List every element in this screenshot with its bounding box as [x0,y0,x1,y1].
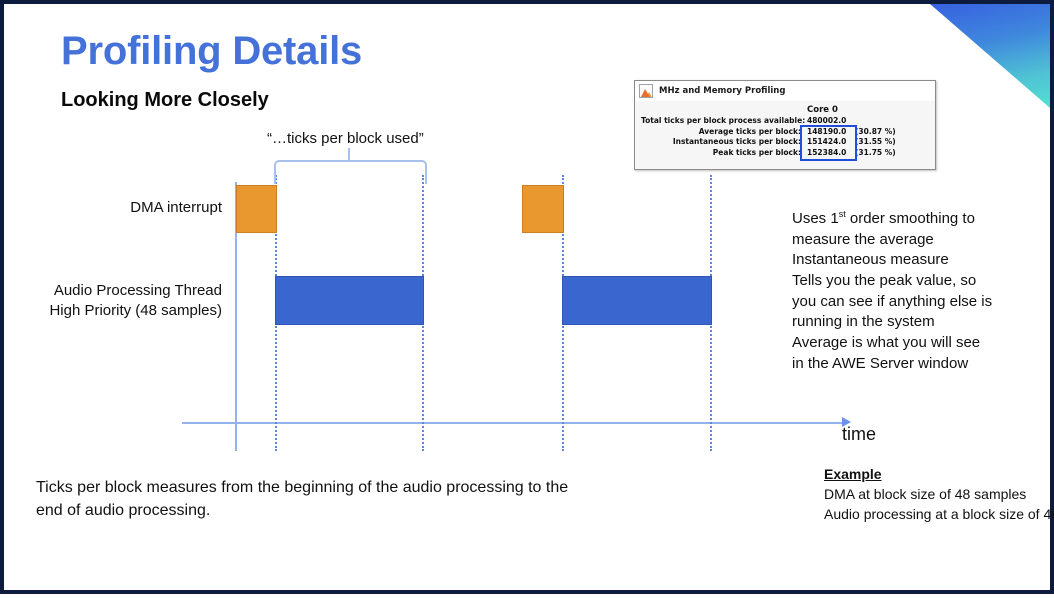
note-line-1-prefix: Uses 1 [792,210,839,227]
profiling-row-average: Average ticks per block: 148190.0 (30.87… [641,127,929,138]
measurement-brace-stem [348,148,350,161]
note-line-1: Uses 1st order smoothing to [792,208,1042,230]
example-line-1: DMA at block size of 48 samples [824,485,1054,505]
profiling-label-total: Total ticks per block process available: [641,116,807,125]
profiling-window-titlebar: MHz and Memory Profiling [635,81,935,101]
example-block: Example DMA at block size of 48 samples … [824,465,1054,525]
time-axis-line [182,422,844,424]
profiling-row-total: Total ticks per block process available:… [641,116,929,127]
note-line-2: measure the average [792,230,1042,251]
note-line-6: running in the system [792,312,1042,333]
profiling-label-average: Average ticks per block: [641,127,807,136]
note-line-4: Tells you the peak value, so [792,271,1042,292]
profiling-window-body: Core 0 Total ticks per block process ava… [635,101,935,158]
profiling-label-instantaneous: Instantaneous ticks per block: [641,137,807,146]
profiling-value-peak: 152384.0 [807,148,855,157]
profiling-value-total: 480002.0 [807,116,855,125]
profiling-value-average: 148190.0 [807,127,855,136]
dma-interrupt-bar-2 [522,185,564,233]
row-label-audio-line1: Audio Processing Thread [14,281,222,301]
dma-interrupt-bar-1 [236,185,277,233]
example-line-2: Audio processing at a block size of 48 [824,505,1054,525]
example-title: Example [824,465,1054,485]
slide-canvas: Profiling Details Looking More Closely D… [0,0,1054,594]
row-label-audio: Audio Processing Thread High Priority (4… [14,281,222,322]
row-label-audio-line2: High Priority (48 samples) [14,301,222,321]
note-line-7: Average is what you will see [792,333,1042,354]
note-line-1-suffix: order smoothing to [846,210,975,227]
notes-right-column: Uses 1st order smoothing to measure the … [792,208,1042,375]
measurement-brace-caption: “…ticks per block used” [267,130,424,147]
app-icon [639,84,653,98]
profiling-row-peak: Peak ticks per block: 152384.0 (31.75 %) [641,148,929,159]
note-line-3: Instantaneous measure [792,250,1042,271]
audio-processing-bar-2 [562,276,712,325]
profiling-label-peak: Peak ticks per block: [641,148,807,157]
profiling-column-header: Core 0 [807,105,929,115]
audio-processing-bar-1 [275,276,424,325]
note-line-1-superscript: st [839,209,846,219]
profiling-pct-average: (30.87 %) [855,127,896,136]
note-line-8: in the AWE Server window [792,354,1042,375]
profiling-pct-peak: (31.75 %) [855,148,896,157]
mhz-memory-profiling-window[interactable]: MHz and Memory Profiling Core 0 Total ti… [634,80,936,170]
measurement-brace [274,160,427,184]
profiling-window-title: MHz and Memory Profiling [659,86,785,96]
note-line-5: you can see if anything else is [792,292,1042,313]
time-axis-label: time [842,424,876,445]
profiling-row-instantaneous: Instantaneous ticks per block: 151424.0 … [641,137,929,148]
footnote-text: Ticks per block measures from the beginn… [36,476,576,522]
profiling-value-instantaneous: 151424.0 [807,137,855,146]
profiling-pct-instantaneous: (31.55 %) [855,137,896,146]
row-label-dma: DMA interrupt [34,198,222,218]
